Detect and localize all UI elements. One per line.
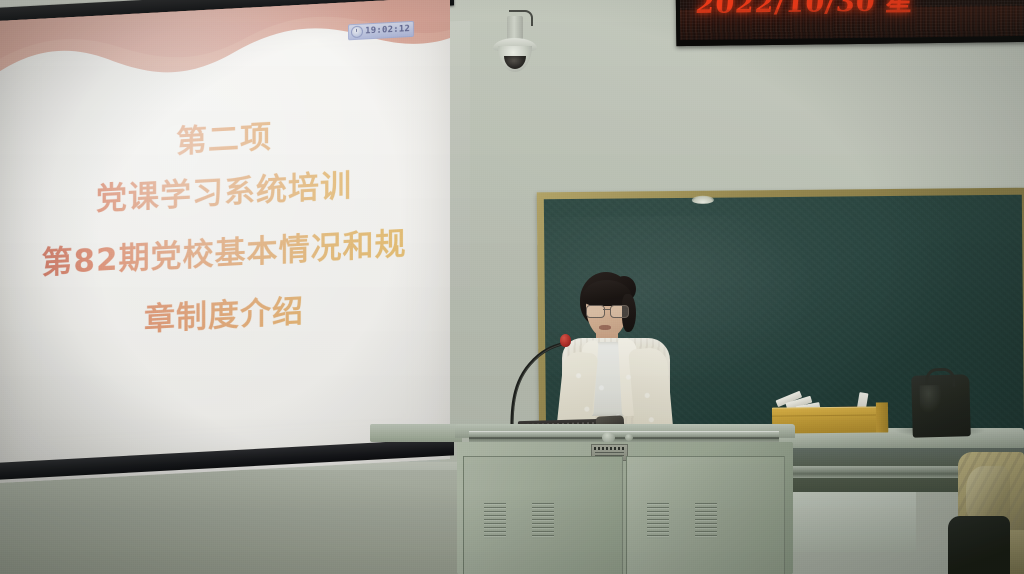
led-pixel-mask [680,4,1024,42]
chalk-box-end [876,402,888,432]
podium-cabinet [455,424,795,574]
podium-doors [463,456,785,574]
podium-left-ledge [370,424,462,442]
vent-louver [532,503,554,539]
slide-text-block: 第二项 党课学习系统培训 第82期党校基本情况和规 章制度介绍 [0,105,450,359]
mouth [599,325,611,330]
podium-door-left[interactable] [463,456,623,574]
dome-security-camera [487,16,543,78]
vent-louver [647,503,669,539]
glasses-bridge [603,309,610,310]
bag-highlight [919,385,942,414]
foreground-person [958,452,1024,574]
dark-clothing [948,516,1010,574]
microphone-head [560,334,571,347]
led-marquee-sign: 2022/10/30星 [676,0,1024,46]
slide-wave-decoration [0,0,450,118]
podium-door-right[interactable] [626,456,786,574]
glasses-lens-right [610,305,629,318]
vent-louver [484,503,506,539]
screen-surface: 第二项 党课学习系统培训 第82期党校基本情况和规 章制度介绍 19:02:12 [0,0,450,483]
dark-handbag [911,374,971,437]
clock-time-text: 19:02:12 [365,24,410,36]
clock-icon [351,26,363,39]
glasses-lens-left [586,305,605,318]
vent-louver [695,503,717,539]
plate-title-bar [594,447,625,450]
eyeglasses-icon [586,305,628,316]
lecture-hall-photo: 2022/10/30星 第二项 [0,0,1024,574]
projection-screen: 第二项 党课学习系统培训 第82期党校基本情况和规 章制度介绍 19:02:12 [0,8,454,490]
podium-knob-small[interactable] [625,434,633,441]
chalkboard-chip [692,196,714,204]
desk-front-panel [788,492,916,552]
